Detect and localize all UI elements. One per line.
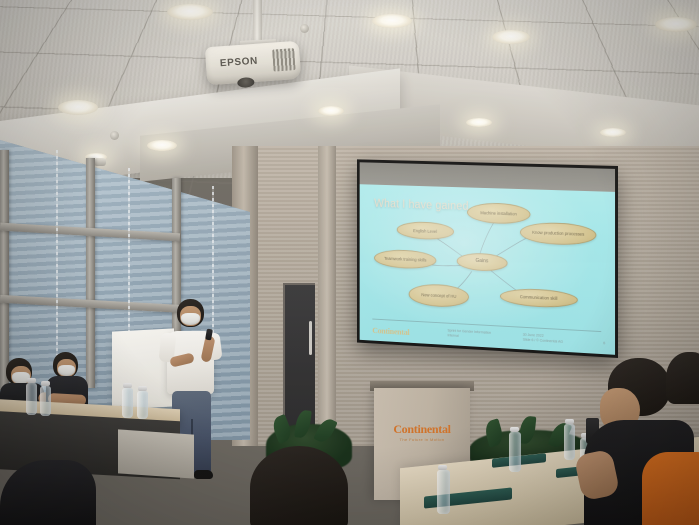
- podium-logo: Continental: [374, 422, 470, 437]
- attendee-head: [250, 446, 348, 525]
- attendee-torso: [642, 452, 699, 525]
- face-mask-icon: [181, 313, 200, 325]
- table-left-side-panel: [118, 429, 194, 478]
- water-bottle[interactable]: [437, 470, 450, 514]
- bottle-cap-icon: [510, 427, 519, 432]
- bottle-cap-icon: [138, 386, 147, 391]
- slide-footer-classification-line2: Internal: [447, 333, 458, 338]
- downlight-icon: [372, 14, 412, 28]
- slide-canvas: What I have gained Machine installation …: [360, 184, 615, 355]
- presenter-shoe: [194, 470, 213, 479]
- conference-room-scene: EPSON What I have gained: [0, 0, 699, 525]
- downlight-icon: [147, 140, 177, 151]
- sprinkler-icon: [300, 24, 309, 33]
- face-mask-icon: [58, 365, 75, 376]
- bottle-cap-icon: [123, 383, 132, 388]
- bottle-cap-icon: [438, 465, 447, 470]
- bottle-cap-icon: [565, 419, 574, 424]
- bottle-cap-icon: [41, 381, 50, 386]
- sprinkler-icon: [110, 131, 119, 140]
- water-bottle[interactable]: [26, 383, 37, 415]
- blind-cord[interactable]: [212, 186, 214, 336]
- slide-page-number: 6: [603, 341, 605, 346]
- water-bottle[interactable]: [122, 388, 133, 418]
- downlight-icon: [58, 100, 98, 115]
- downlight-icon: [655, 17, 697, 32]
- attendee-head: [666, 352, 699, 404]
- water-bottle[interactable]: [564, 424, 575, 460]
- projector: EPSON: [205, 41, 301, 85]
- downlight-icon: [600, 128, 626, 137]
- window-mullion: [86, 158, 95, 388]
- blind-cord[interactable]: [56, 150, 58, 360]
- projector-vent-icon: [272, 48, 295, 71]
- bottle-cap-icon: [27, 378, 36, 383]
- ceiling-sensor-icon: [94, 158, 106, 166]
- projector-brand-label: EPSON: [220, 56, 259, 70]
- downlight-icon: [167, 4, 213, 20]
- slide-footer-logo: Continental: [372, 325, 409, 337]
- door-handle-icon[interactable]: [309, 321, 312, 355]
- projector-mount: [253, 0, 262, 44]
- wall-column: [318, 146, 336, 446]
- water-bottle[interactable]: [509, 432, 521, 472]
- projection-screen: What I have gained Machine installation …: [357, 159, 618, 358]
- downlight-icon: [466, 118, 492, 127]
- downlight-icon: [492, 30, 530, 44]
- water-bottle[interactable]: [40, 386, 51, 416]
- downlight-icon: [318, 106, 344, 116]
- podium-tagline: The Future in Motion: [374, 437, 470, 442]
- window-mullion: [0, 150, 9, 390]
- water-bottle[interactable]: [137, 391, 148, 419]
